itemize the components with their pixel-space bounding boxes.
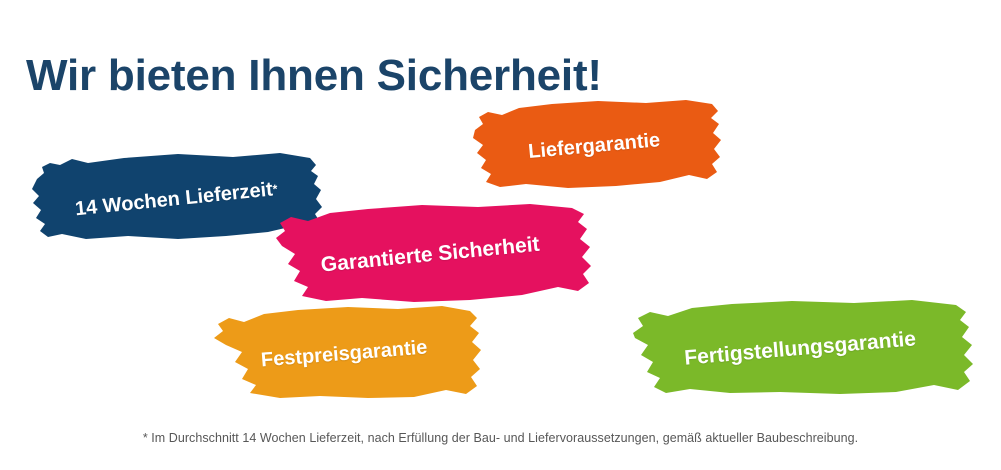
brush-stroke-shape-icon — [464, 100, 726, 188]
brush-path — [276, 204, 591, 302]
footnote-text: * Im Durchschnitt 14 Wochen Lieferzeit, … — [0, 431, 1001, 445]
badge-group: 14 Wochen Lieferzeit* Liefergarantie Gar… — [0, 0, 1001, 470]
brush-path — [214, 306, 481, 398]
badge-sicherheit[interactable]: Garantierte Sicherheit — [264, 204, 600, 302]
badge-fertigstellung[interactable]: Fertigstellungsgarantie — [620, 300, 980, 394]
badge-festpreis[interactable]: Festpreisgarantie — [202, 306, 486, 398]
brush-stroke-shape-icon — [620, 300, 980, 394]
brush-stroke-shape-icon — [264, 204, 600, 302]
brush-path — [473, 100, 721, 188]
brush-path — [633, 300, 973, 394]
brush-stroke-shape-icon — [202, 306, 486, 398]
badge-liefergarantie[interactable]: Liefergarantie — [464, 100, 726, 188]
